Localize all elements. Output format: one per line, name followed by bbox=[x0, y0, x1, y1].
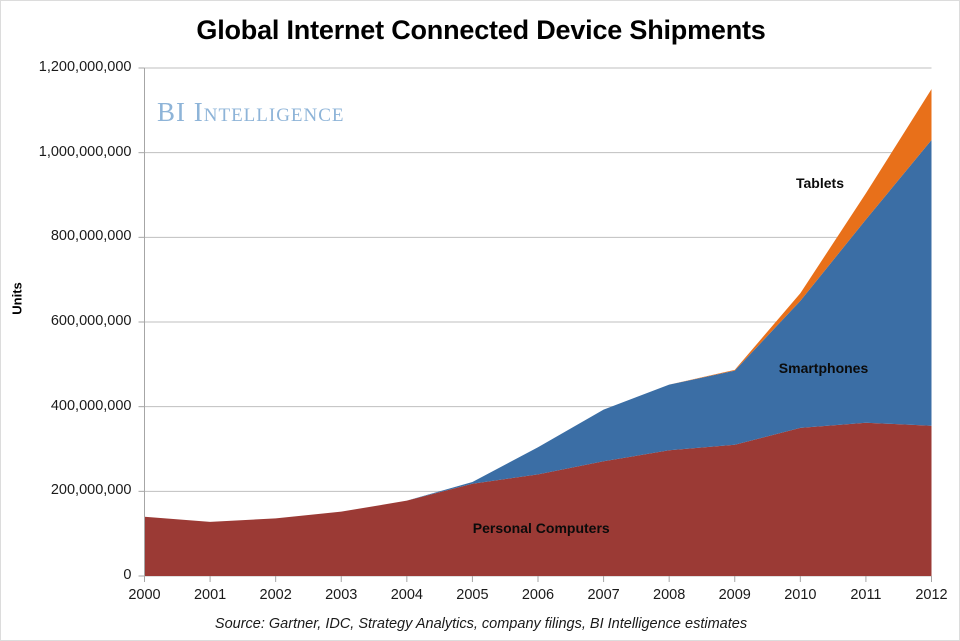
y-tick-label: 600,000,000 bbox=[51, 313, 132, 329]
y-tick-label: 400,000,000 bbox=[51, 398, 132, 414]
series-label-tablets: Tablets bbox=[796, 175, 844, 191]
y-tick-label: 1,000,000,000 bbox=[39, 144, 132, 160]
chart-title: Global Internet Connected Device Shipmen… bbox=[1, 15, 960, 46]
x-tick-label: 2012 bbox=[902, 587, 960, 603]
x-tick-label: 2010 bbox=[770, 587, 830, 603]
x-tick-label: 2001 bbox=[180, 587, 240, 603]
x-tick-label: 2011 bbox=[836, 587, 896, 603]
x-tick-label: 2007 bbox=[574, 587, 634, 603]
x-tick-label: 2000 bbox=[115, 587, 175, 603]
area-series-personal-computers bbox=[145, 423, 932, 576]
series-label-personal-computers: Personal Computers bbox=[473, 520, 610, 536]
x-tick-label: 2006 bbox=[508, 587, 568, 603]
plot-area bbox=[1, 1, 960, 641]
x-tick-label: 2009 bbox=[705, 587, 765, 603]
y-tick-label: 800,000,000 bbox=[51, 228, 132, 244]
y-tick-label: 1,200,000,000 bbox=[39, 59, 132, 75]
stacked-areas bbox=[145, 89, 932, 576]
x-tick-label: 2004 bbox=[377, 587, 437, 603]
source-note: Source: Gartner, IDC, Strategy Analytics… bbox=[1, 616, 960, 632]
y-axis-title: Units bbox=[10, 269, 25, 329]
series-label-smartphones: Smartphones bbox=[779, 360, 868, 376]
x-tick-label: 2005 bbox=[442, 587, 502, 603]
chart-container: Global Internet Connected Device Shipmen… bbox=[0, 0, 960, 641]
y-tick-label: 0 bbox=[123, 567, 131, 583]
x-tick-label: 2008 bbox=[639, 587, 699, 603]
x-tick-label: 2002 bbox=[246, 587, 306, 603]
y-tick-label: 200,000,000 bbox=[51, 482, 132, 498]
x-tick-label: 2003 bbox=[311, 587, 371, 603]
